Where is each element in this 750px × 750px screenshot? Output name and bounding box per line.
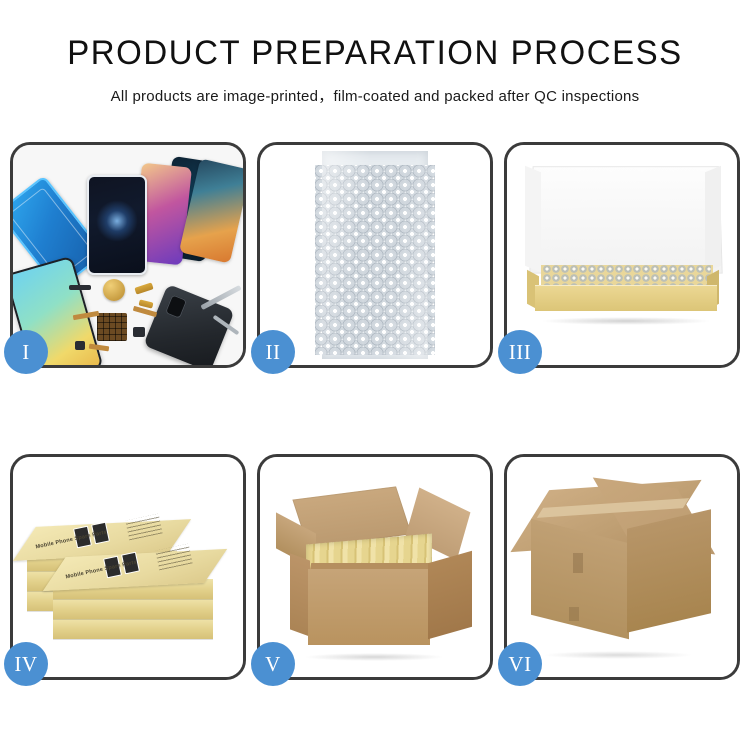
step-badge-1: I	[4, 330, 48, 374]
step-image-3	[507, 145, 737, 365]
white-box-lid	[529, 166, 722, 273]
small-chip-part-3	[133, 327, 145, 337]
white-box-lid-right-flap	[705, 166, 721, 272]
carton-seam-upper	[573, 553, 583, 573]
step-badge-2: II	[251, 330, 295, 374]
carton-front-face	[308, 569, 430, 645]
step-panel-6: VI	[504, 454, 740, 680]
plastic-sheen-overlay	[322, 151, 428, 359]
sealed-carton-drop-shadow	[543, 651, 693, 659]
step-panel-2: II	[257, 142, 493, 368]
step-panel-5: V	[257, 454, 493, 680]
carton-left-face	[290, 553, 310, 636]
page-subtitle: All products are image-printed，film-coat…	[0, 72, 750, 106]
box-drop-shadow	[541, 317, 711, 325]
speaker-part-icon	[103, 279, 125, 301]
step-image-2	[260, 145, 490, 365]
process-step-grid: I II III	[10, 142, 740, 680]
step-badge-6: VI	[498, 642, 542, 686]
step-badge-3: III	[498, 330, 542, 374]
step-panel-3: III	[504, 142, 740, 368]
retail-box-edge-5	[53, 599, 213, 619]
sealed-carton-side-face	[627, 509, 711, 632]
gold-connector-1	[134, 282, 153, 294]
carton-drop-shadow	[304, 653, 444, 661]
step-image-4: Mobile Phone Spare Parts Mobile Phone Sp…	[13, 457, 243, 677]
small-chip-part-1	[69, 285, 91, 290]
kraft-tray-front	[535, 285, 717, 311]
carton-right-face	[428, 551, 472, 640]
step-image-6	[507, 457, 737, 677]
retail-box-stack: Mobile Phone Spare Parts Mobile Phone Sp…	[27, 479, 233, 665]
bubble-wrapped-contents	[543, 265, 711, 287]
product-preparation-infographic: PRODUCT PREPARATION PROCESS All products…	[0, 0, 750, 750]
circuit-board-part	[97, 313, 127, 341]
small-chip-part-2	[75, 341, 85, 350]
retail-box-edge-4	[53, 619, 213, 639]
step-badge-5: V	[251, 642, 295, 686]
phone-screen-glass	[87, 175, 147, 275]
carton-seam-lower	[569, 607, 579, 621]
step-panel-1: I	[10, 142, 246, 368]
step-image-5	[260, 457, 490, 677]
step-panel-4: Mobile Phone Spare Parts Mobile Phone Sp…	[10, 454, 246, 680]
step-image-1	[13, 145, 243, 365]
step-badge-4: IV	[4, 642, 48, 686]
flex-cable-2	[133, 306, 157, 317]
white-box-lid-left-flap	[525, 166, 541, 272]
page-title: PRODUCT PREPARATION PROCESS	[11, 0, 739, 72]
header: PRODUCT PREPARATION PROCESS All products…	[0, 0, 750, 106]
